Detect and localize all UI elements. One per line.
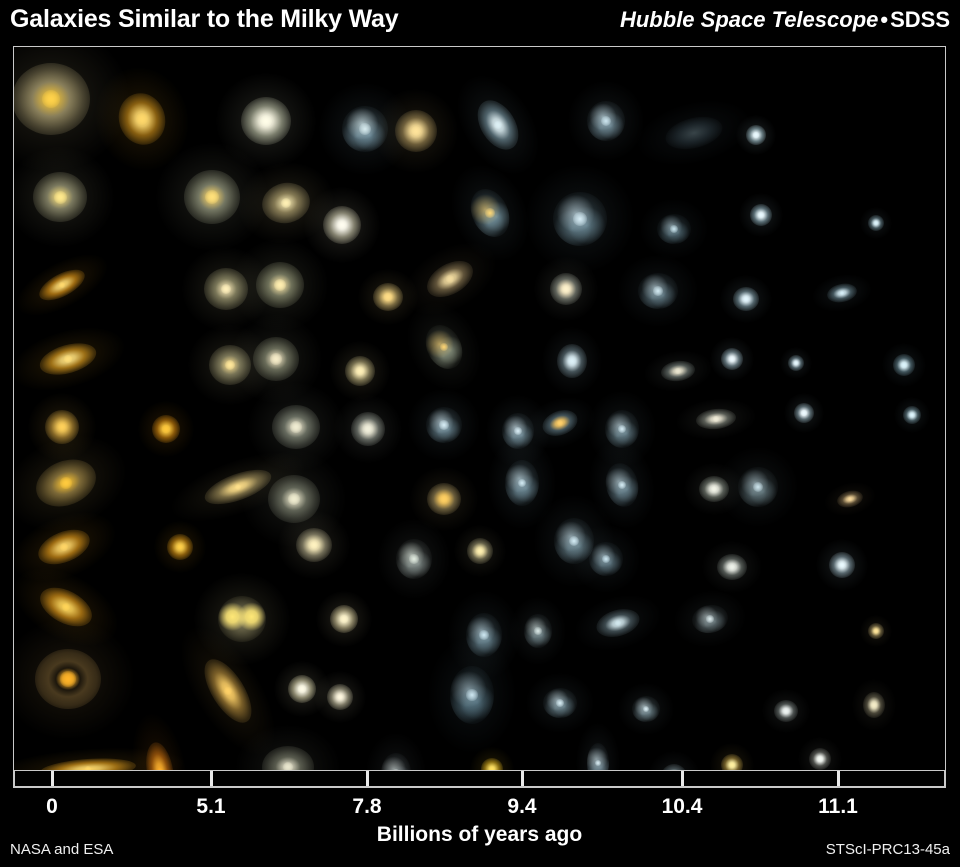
galaxy-thumbnail bbox=[327, 684, 353, 710]
galaxy-nucleus bbox=[60, 671, 76, 687]
galaxy-halo bbox=[702, 541, 762, 593]
galaxy-halo bbox=[710, 337, 754, 381]
galaxy-nucleus bbox=[310, 541, 319, 550]
galaxy-thumbnail bbox=[587, 101, 625, 141]
galaxy-thumbnail bbox=[690, 602, 730, 636]
galaxy-nucleus bbox=[337, 220, 347, 230]
galaxy-nucleus bbox=[466, 689, 477, 700]
galaxy-thumbnail bbox=[717, 554, 747, 580]
poster-header: Galaxies Similar to the Milky Way Hubble… bbox=[0, 0, 960, 46]
galaxy-halo bbox=[860, 615, 892, 647]
galaxy-image-frame bbox=[13, 46, 946, 771]
observatory-name: Hubble Space Telescope bbox=[620, 7, 878, 32]
galaxy-nucleus bbox=[675, 368, 680, 373]
galaxy-nucleus bbox=[753, 482, 763, 492]
galaxy-halo bbox=[14, 619, 134, 739]
galaxy-halo bbox=[82, 55, 202, 182]
galaxy-nucleus bbox=[283, 762, 294, 770]
galaxy-thumbnail bbox=[152, 415, 180, 443]
galaxy-nucleus bbox=[162, 425, 169, 432]
galaxy-thumbnail bbox=[657, 214, 691, 244]
galaxy-nucleus bbox=[534, 627, 541, 634]
galaxy-thumbnail bbox=[256, 262, 304, 308]
galaxy-halo bbox=[428, 637, 516, 753]
galaxy-halo bbox=[278, 511, 350, 579]
galaxy-halo bbox=[470, 747, 514, 770]
galaxy-halo bbox=[304, 187, 380, 263]
galaxy-thumbnail bbox=[345, 356, 375, 386]
galaxy-thumbnail bbox=[825, 281, 858, 305]
galaxy-nucleus bbox=[409, 554, 418, 563]
galaxy-halo bbox=[518, 388, 602, 458]
galaxy-nucleus bbox=[281, 198, 291, 208]
galaxy-thumbnail bbox=[835, 488, 864, 510]
axis-tick-label: 5.1 bbox=[196, 795, 225, 819]
poster-root: Galaxies Similar to the Milky Way Hubble… bbox=[0, 0, 960, 867]
galaxy-halo bbox=[762, 689, 810, 733]
galaxy-nucleus bbox=[392, 769, 400, 770]
galaxy-thumbnail bbox=[381, 753, 411, 770]
galaxy-nucleus bbox=[439, 420, 448, 429]
galaxy-thumbnail bbox=[296, 528, 332, 562]
galaxy-thumbnail bbox=[45, 410, 79, 444]
galaxy-halo bbox=[14, 499, 125, 595]
galaxy-nucleus bbox=[64, 355, 71, 362]
galaxy-halo bbox=[188, 325, 272, 405]
galaxy-halo bbox=[232, 239, 328, 331]
galaxy-nucleus bbox=[290, 421, 301, 432]
galaxy-thumbnail bbox=[262, 746, 314, 770]
galaxy-thumbnail bbox=[421, 254, 479, 305]
survey-name: SDSS bbox=[890, 7, 950, 32]
galaxy-nucleus bbox=[225, 360, 235, 370]
galaxy-nucleus bbox=[337, 694, 344, 701]
galaxy-nucleus bbox=[60, 543, 68, 551]
galaxy-nucleus bbox=[384, 293, 391, 300]
galaxy-nucleus bbox=[871, 702, 877, 708]
galaxy-thumbnail bbox=[863, 692, 885, 718]
galaxy-nucleus bbox=[670, 225, 678, 233]
galaxy-thumbnail bbox=[587, 743, 609, 770]
galaxy-thumbnail bbox=[809, 748, 831, 770]
galaxy-nucleus bbox=[221, 284, 232, 295]
bullet-separator-icon: • bbox=[878, 7, 890, 32]
galaxy-thumbnail bbox=[829, 552, 855, 578]
galaxy-halo bbox=[14, 419, 140, 547]
galaxy-thumbnail bbox=[602, 460, 642, 510]
galaxy-thumbnail bbox=[419, 319, 470, 375]
galaxy-nucleus bbox=[557, 420, 563, 426]
galaxy-nucleus bbox=[601, 116, 611, 126]
axis-baseline bbox=[13, 786, 946, 788]
galaxy-nucleus bbox=[874, 629, 878, 633]
galaxy-thumbnail bbox=[218, 596, 266, 642]
galaxy-halo bbox=[684, 463, 744, 515]
galaxy-nucleus bbox=[60, 477, 71, 488]
galaxy-nucleus bbox=[618, 425, 627, 434]
galaxy-halo bbox=[784, 393, 824, 433]
galaxy-halo bbox=[156, 143, 268, 251]
galaxy-halo bbox=[194, 573, 290, 665]
galaxy-nucleus bbox=[260, 115, 272, 127]
galaxy-halo bbox=[618, 683, 674, 735]
galaxy-halo bbox=[14, 742, 185, 770]
galaxy-thumbnail bbox=[396, 539, 432, 579]
galaxy-nucleus bbox=[711, 486, 718, 493]
galaxy-nucleus bbox=[340, 615, 347, 622]
galaxy-halo bbox=[441, 61, 556, 189]
galaxy-halo bbox=[334, 395, 402, 463]
galaxy-halo bbox=[374, 89, 458, 173]
galaxy-nucleus bbox=[85, 766, 90, 770]
galaxy-nucleus bbox=[840, 291, 845, 296]
galaxy-thumbnail bbox=[794, 403, 814, 423]
galaxy-thumbnail bbox=[554, 518, 594, 564]
galaxy-thumbnail bbox=[481, 758, 503, 770]
axis-cap-right bbox=[944, 771, 946, 788]
axis-tick-mark bbox=[521, 771, 524, 786]
galaxy-halo bbox=[437, 153, 543, 274]
galaxy-thumbnail bbox=[539, 406, 581, 441]
galaxy-halo bbox=[526, 165, 634, 273]
galaxy-thumbnail bbox=[557, 344, 587, 378]
galaxy-halo bbox=[821, 477, 879, 521]
galaxy-halo bbox=[640, 199, 708, 259]
galaxy-halo bbox=[648, 751, 700, 770]
galaxy-nucleus bbox=[54, 191, 67, 204]
galaxy-halo bbox=[28, 393, 96, 461]
galaxy-nucleus bbox=[440, 495, 448, 503]
galaxy-nucleus bbox=[839, 562, 846, 569]
galaxy-nucleus bbox=[817, 756, 823, 762]
galaxy-thumbnail bbox=[543, 688, 577, 718]
galaxy-thumbnail bbox=[774, 700, 798, 722]
galaxy-thumbnail bbox=[142, 740, 178, 770]
galaxy-thumbnail bbox=[660, 359, 696, 384]
galaxy-thumbnail bbox=[201, 463, 276, 511]
galaxy-nucleus bbox=[801, 410, 806, 415]
galaxy-thumbnail bbox=[589, 542, 623, 576]
galaxy-thumbnail bbox=[502, 413, 534, 449]
galaxy-halo bbox=[670, 585, 751, 653]
galaxy-thumbnail bbox=[469, 93, 526, 157]
galaxy-nucleus bbox=[848, 497, 852, 501]
time-axis: 05.17.89.410.411.1 Billions of years ago bbox=[13, 771, 946, 867]
galaxy-nucleus bbox=[440, 343, 449, 352]
galaxy-thumbnail bbox=[35, 264, 89, 307]
galaxy-halo bbox=[852, 679, 896, 731]
axis-tick-mark bbox=[681, 771, 684, 786]
footer-left-credit: NASA and ESA bbox=[10, 841, 113, 858]
galaxy-halo bbox=[642, 346, 715, 395]
galaxy-thumbnail bbox=[29, 451, 103, 515]
galaxy-thumbnail bbox=[699, 476, 729, 502]
galaxy-nucleus bbox=[298, 685, 305, 692]
galaxy-halo bbox=[710, 743, 754, 770]
galaxy-thumbnail bbox=[39, 756, 136, 770]
galaxy-halo bbox=[14, 552, 130, 661]
galaxy-halo bbox=[780, 347, 812, 379]
galaxy-halo bbox=[454, 525, 506, 577]
galaxy-thumbnail bbox=[505, 460, 539, 506]
galaxy-nucleus bbox=[62, 603, 70, 611]
galaxy-nucleus bbox=[874, 221, 878, 225]
galaxy-thumbnail bbox=[204, 268, 248, 310]
galaxy-nucleus bbox=[901, 362, 907, 368]
galaxy-thumbnail bbox=[466, 613, 502, 657]
galaxy-halo bbox=[230, 315, 322, 403]
galaxy-thumbnail bbox=[395, 110, 437, 152]
axis-tick-mark bbox=[51, 771, 54, 786]
galaxy-halo bbox=[630, 90, 757, 176]
galaxy-halo bbox=[486, 395, 550, 467]
galaxy-thumbnail bbox=[662, 111, 726, 154]
galaxy-nucleus bbox=[235, 484, 242, 491]
axis-tick-mark bbox=[837, 771, 840, 786]
galaxy-thumbnail bbox=[14, 63, 90, 135]
galaxy-thumbnail bbox=[272, 405, 320, 449]
galaxy-nucleus bbox=[356, 367, 364, 375]
galaxy-halo bbox=[736, 115, 776, 155]
galaxy-nucleus bbox=[729, 564, 736, 571]
galaxy-halo bbox=[163, 439, 312, 536]
galaxy-thumbnail bbox=[868, 623, 884, 639]
galaxy-thumbnail bbox=[721, 754, 743, 770]
galaxy-nucleus bbox=[518, 479, 527, 488]
galaxy-thumbnail bbox=[268, 475, 320, 523]
galaxy-nucleus bbox=[494, 121, 503, 130]
galaxy-nucleus bbox=[411, 126, 422, 137]
galaxy-nucleus bbox=[58, 423, 67, 432]
galaxy-halo bbox=[718, 447, 798, 527]
galaxy-halo bbox=[739, 193, 783, 237]
galaxy-nucleus bbox=[205, 190, 219, 204]
galaxy-halo bbox=[163, 613, 294, 769]
galaxy-nucleus bbox=[729, 356, 735, 362]
galaxy-nucleus bbox=[573, 212, 587, 226]
galaxy-thumbnail bbox=[112, 87, 172, 151]
galaxy-thumbnail bbox=[746, 125, 766, 145]
galaxy-thumbnail bbox=[288, 675, 316, 703]
axis-cap-left bbox=[13, 771, 15, 788]
galaxy-thumbnail bbox=[450, 666, 494, 724]
galaxy-halo bbox=[274, 661, 330, 717]
galaxy-halo bbox=[860, 207, 892, 239]
galaxy-halo bbox=[569, 586, 668, 660]
galaxy-halo bbox=[568, 81, 644, 161]
galaxy-thumbnail bbox=[463, 183, 516, 243]
galaxy-nucleus bbox=[729, 762, 735, 768]
galaxy-nucleus bbox=[485, 208, 494, 217]
galaxy-halo bbox=[410, 467, 478, 531]
galaxy-nucleus bbox=[743, 296, 749, 302]
galaxy-thumbnail bbox=[373, 283, 403, 311]
galaxy-thumbnail bbox=[209, 345, 251, 385]
galaxy-halo bbox=[488, 437, 556, 529]
galaxy-thumbnail bbox=[550, 273, 582, 305]
footer-right-credit: STScI-PRC13-45a bbox=[826, 841, 950, 858]
galaxy-nucleus bbox=[783, 708, 789, 714]
axis-tick-label: 7.8 bbox=[352, 795, 381, 819]
galaxy-halo bbox=[366, 733, 426, 770]
galaxy-thumbnail bbox=[593, 604, 642, 641]
galaxy-nucleus bbox=[602, 555, 611, 564]
galaxy-halo bbox=[154, 521, 206, 573]
galaxy-halo bbox=[408, 389, 480, 461]
galaxy-thumbnail bbox=[35, 649, 101, 709]
galaxy-nucleus bbox=[653, 286, 662, 295]
galaxy-thumbnail bbox=[893, 354, 915, 376]
galaxy-thumbnail bbox=[733, 287, 759, 311]
galaxy-nucleus bbox=[274, 279, 286, 291]
galaxy-thumbnail bbox=[524, 614, 552, 648]
galaxy-thumbnail bbox=[788, 355, 804, 371]
galaxy-halo bbox=[882, 343, 926, 387]
galaxy-nucleus bbox=[794, 361, 798, 365]
galaxy-field bbox=[14, 47, 945, 770]
galaxy-thumbnail bbox=[33, 172, 87, 222]
galaxy-halo bbox=[534, 495, 614, 587]
galaxy-thumbnail bbox=[167, 534, 193, 560]
galaxy-nucleus bbox=[136, 113, 148, 125]
galaxy-halo bbox=[534, 257, 598, 321]
galaxy-halo bbox=[216, 73, 316, 169]
galaxy-halo bbox=[674, 395, 758, 443]
galaxy-halo bbox=[242, 451, 346, 547]
galaxy-halo bbox=[588, 391, 656, 467]
galaxy-thumbnail bbox=[467, 538, 493, 564]
axis-title: Billions of years ago bbox=[13, 823, 946, 847]
galaxy-halo bbox=[392, 228, 509, 330]
galaxy-halo bbox=[14, 242, 116, 328]
galaxy-nucleus bbox=[514, 427, 522, 435]
galaxy-thumbnail bbox=[34, 580, 98, 635]
page-title: Galaxies Similar to the Milky Way bbox=[10, 5, 398, 34]
galaxy-nucleus bbox=[758, 212, 764, 218]
galaxy-halo bbox=[720, 275, 772, 323]
galaxy-nucleus bbox=[615, 620, 622, 627]
axis-tick-mark bbox=[366, 771, 369, 786]
galaxy-nucleus bbox=[359, 123, 371, 135]
galaxy-thumbnail bbox=[695, 407, 737, 431]
galaxy-halo bbox=[182, 247, 270, 331]
galaxy-thumbnail bbox=[903, 406, 921, 424]
galaxy-halo bbox=[248, 383, 344, 471]
galaxy-halo bbox=[798, 737, 842, 770]
galaxy-halo bbox=[618, 255, 698, 327]
galaxy-halo bbox=[312, 76, 419, 183]
galaxy-nucleus bbox=[477, 548, 484, 555]
galaxy-nucleus bbox=[364, 425, 373, 434]
galaxy-nucleus bbox=[753, 132, 758, 137]
galaxy-halo bbox=[526, 673, 594, 733]
galaxy-halo bbox=[124, 709, 195, 770]
galaxy-thumbnail bbox=[426, 407, 462, 443]
galaxy-thumbnail bbox=[638, 273, 678, 309]
galaxy-nucleus bbox=[562, 285, 570, 293]
galaxy-nucleus bbox=[618, 481, 626, 489]
galaxy-nucleus bbox=[713, 416, 718, 421]
galaxy-nucleus bbox=[706, 615, 713, 622]
axis-tick-label: 11.1 bbox=[818, 795, 858, 819]
galaxy-halo bbox=[14, 316, 131, 402]
galaxy-thumbnail bbox=[750, 204, 772, 226]
galaxy-thumbnail bbox=[338, 102, 391, 155]
axis-tick-label: 9.4 bbox=[507, 795, 536, 819]
galaxy-nucleus bbox=[177, 544, 184, 551]
galaxy-thumbnail bbox=[605, 410, 639, 448]
galaxy-nucleus bbox=[910, 413, 915, 418]
galaxy-halo bbox=[448, 591, 520, 679]
galaxy-thumbnail bbox=[258, 178, 313, 227]
galaxy-thumbnail bbox=[330, 605, 358, 633]
galaxy-nucleus bbox=[479, 630, 488, 639]
galaxy-thumbnail bbox=[33, 523, 94, 571]
galaxy-nucleus bbox=[595, 760, 601, 766]
galaxy-thumbnail bbox=[661, 764, 687, 770]
galaxy-nucleus bbox=[569, 536, 579, 546]
galaxy-thumbnail bbox=[195, 652, 260, 730]
galaxy-nucleus bbox=[643, 706, 650, 713]
galaxy-nucleus bbox=[59, 282, 65, 288]
galaxy-halo bbox=[809, 269, 875, 317]
galaxy-nucleus bbox=[568, 357, 576, 365]
galaxy-halo bbox=[816, 539, 868, 591]
galaxy-thumbnail bbox=[351, 412, 385, 446]
galaxy-halo bbox=[138, 401, 194, 457]
galaxy-halo bbox=[236, 725, 340, 770]
galaxy-halo bbox=[572, 525, 640, 593]
galaxy-halo bbox=[542, 327, 602, 395]
axis-tick-label: 10.4 bbox=[662, 795, 703, 819]
galaxy-halo bbox=[14, 47, 129, 171]
axis-tick-mark bbox=[210, 771, 213, 786]
galaxy-halo bbox=[314, 671, 366, 723]
galaxy-thumbnail bbox=[553, 192, 607, 246]
galaxy-halo bbox=[576, 723, 620, 770]
galaxy-thumbnail bbox=[868, 215, 884, 231]
galaxy-halo bbox=[378, 519, 450, 599]
observatory-credit: Hubble Space Telescope•SDSS bbox=[620, 7, 950, 33]
galaxy-halo bbox=[393, 291, 494, 403]
galaxy-thumbnail bbox=[253, 337, 299, 381]
galaxy-nucleus bbox=[42, 90, 61, 109]
galaxy-thumbnail bbox=[323, 206, 361, 244]
galaxy-halo bbox=[14, 147, 114, 247]
galaxy-halo bbox=[316, 591, 372, 647]
galaxy-thumbnail bbox=[184, 170, 240, 224]
axis-tick-label: 0 bbox=[46, 795, 58, 819]
galaxy-thumbnail bbox=[36, 338, 99, 381]
galaxy-halo bbox=[330, 341, 390, 401]
galaxy-halo bbox=[894, 397, 930, 433]
galaxy-nucleus bbox=[224, 687, 232, 695]
galaxy-thumbnail bbox=[738, 467, 778, 507]
galaxy-thumbnail bbox=[427, 483, 461, 515]
galaxy-nucleus bbox=[556, 699, 564, 707]
galaxy-nucleus bbox=[446, 275, 454, 283]
galaxy-thumbnail bbox=[721, 348, 743, 370]
galaxy-halo bbox=[510, 597, 566, 665]
galaxy-thumbnail bbox=[241, 97, 291, 145]
galaxy-nucleus bbox=[489, 766, 495, 770]
galaxy-nucleus bbox=[270, 353, 281, 364]
galaxy-nucleus bbox=[288, 493, 300, 505]
galaxy-nucleus bbox=[157, 768, 164, 770]
galaxy-halo bbox=[582, 435, 663, 534]
galaxy-halo bbox=[358, 269, 418, 325]
galaxy-thumbnail bbox=[632, 696, 660, 722]
